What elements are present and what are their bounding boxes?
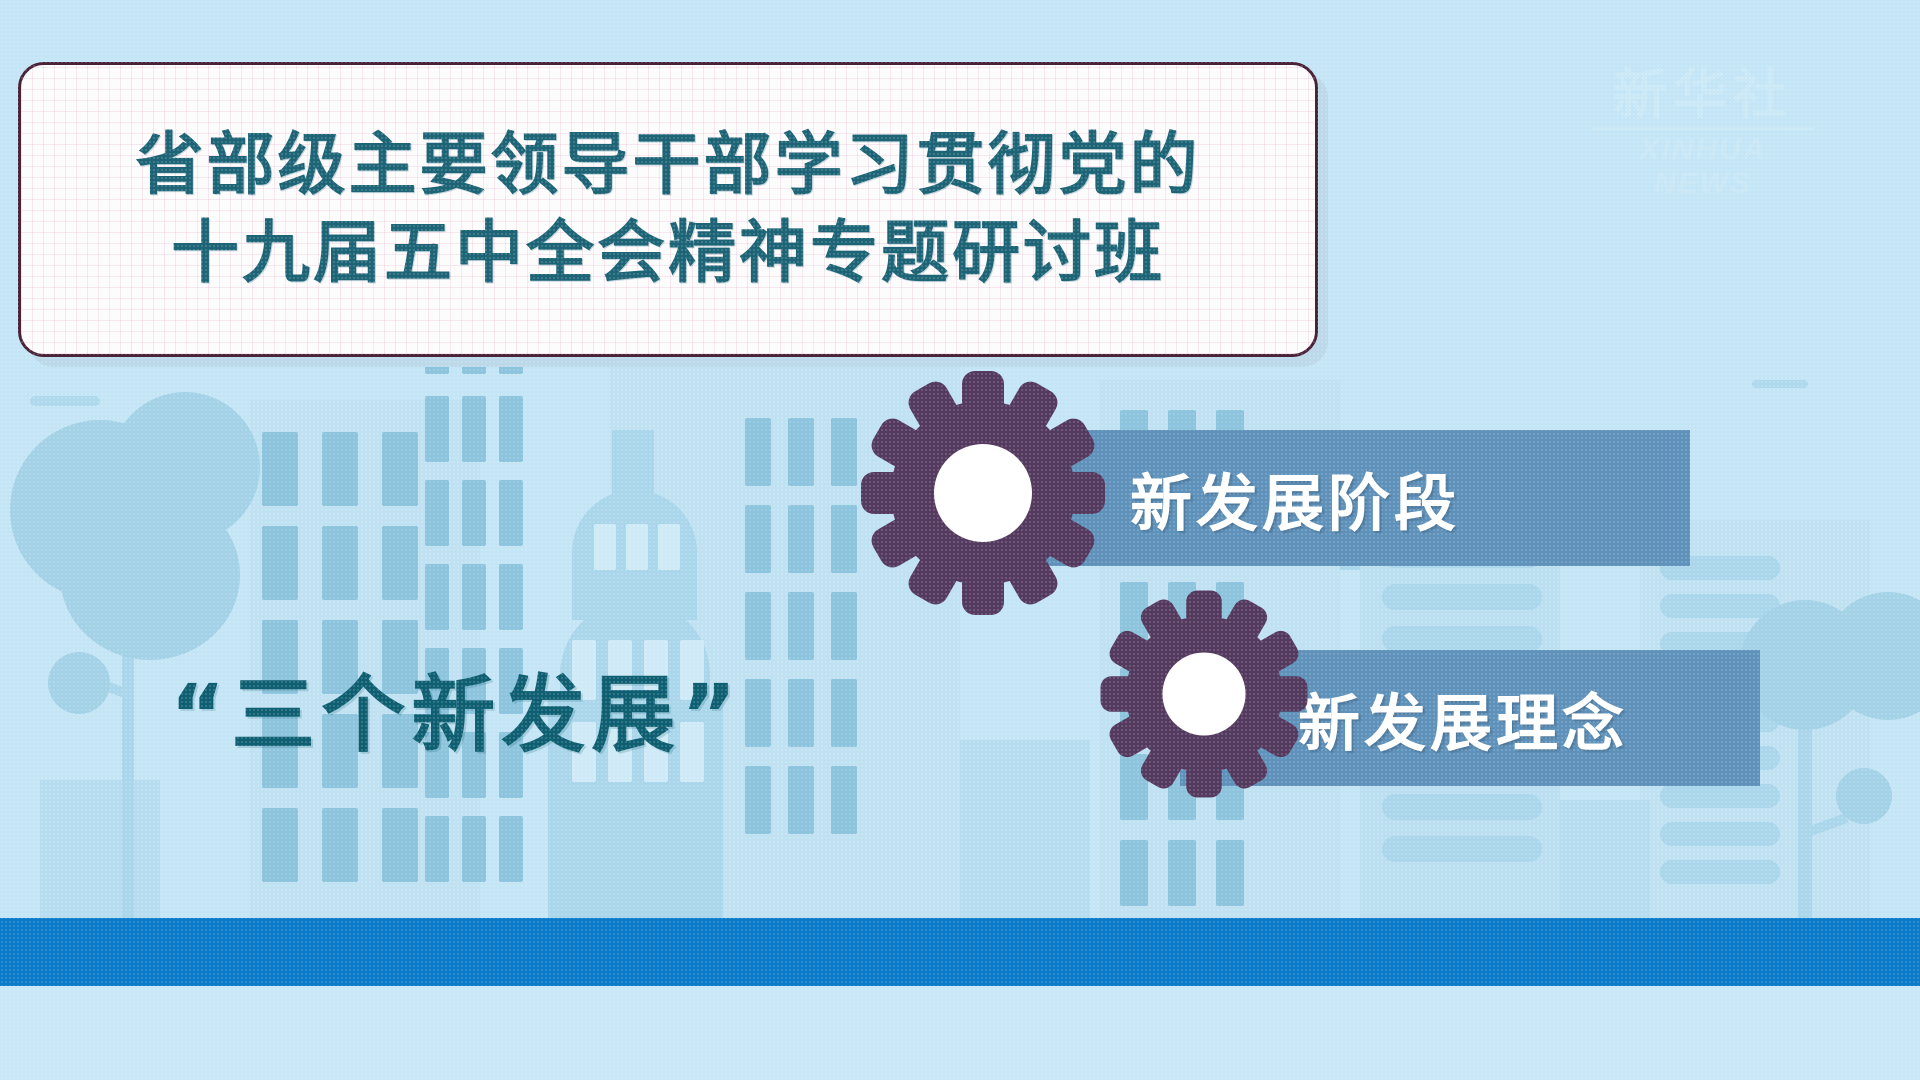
building-block <box>960 740 1090 920</box>
title-line-1: 省部级主要领导干部学习贯彻党的 <box>135 122 1200 209</box>
watermark-en-text: XINHUA NEWS <box>1588 133 1818 201</box>
bottom-fill-area <box>0 986 1920 1080</box>
poster-canvas: 新华社 XINHUA NEWS 省部级主要领导干部学习贯彻党的 十九届五中全会精… <box>0 0 1920 1080</box>
title-line-2: 十九届五中全会精神专题研讨班 <box>171 210 1165 297</box>
building-block <box>40 780 160 920</box>
slogan-three-new-developments: “三个新发展” <box>170 648 742 769</box>
banner-label: 新发展阶段 <box>1130 453 1460 543</box>
gear-two <box>1098 588 1310 800</box>
title-card: 省部级主要领导干部学习贯彻党的 十九届五中全会精神专题研讨班 <box>18 62 1318 357</box>
building-block <box>1560 800 1650 920</box>
bottom-accent-bar <box>0 918 1920 986</box>
decor-strip <box>30 396 100 406</box>
gear-one <box>858 368 1108 618</box>
watermark-cn-text: 新华社 <box>1588 68 1818 122</box>
watermark-rule <box>1592 127 1814 130</box>
xinhua-watermark: 新华社 XINHUA NEWS <box>1588 68 1818 201</box>
banner-label: 新发展理念 <box>1298 673 1628 763</box>
decor-strip <box>1752 380 1808 388</box>
banner-new-development-stage[interactable]: 新发展阶段 <box>1010 430 1690 566</box>
